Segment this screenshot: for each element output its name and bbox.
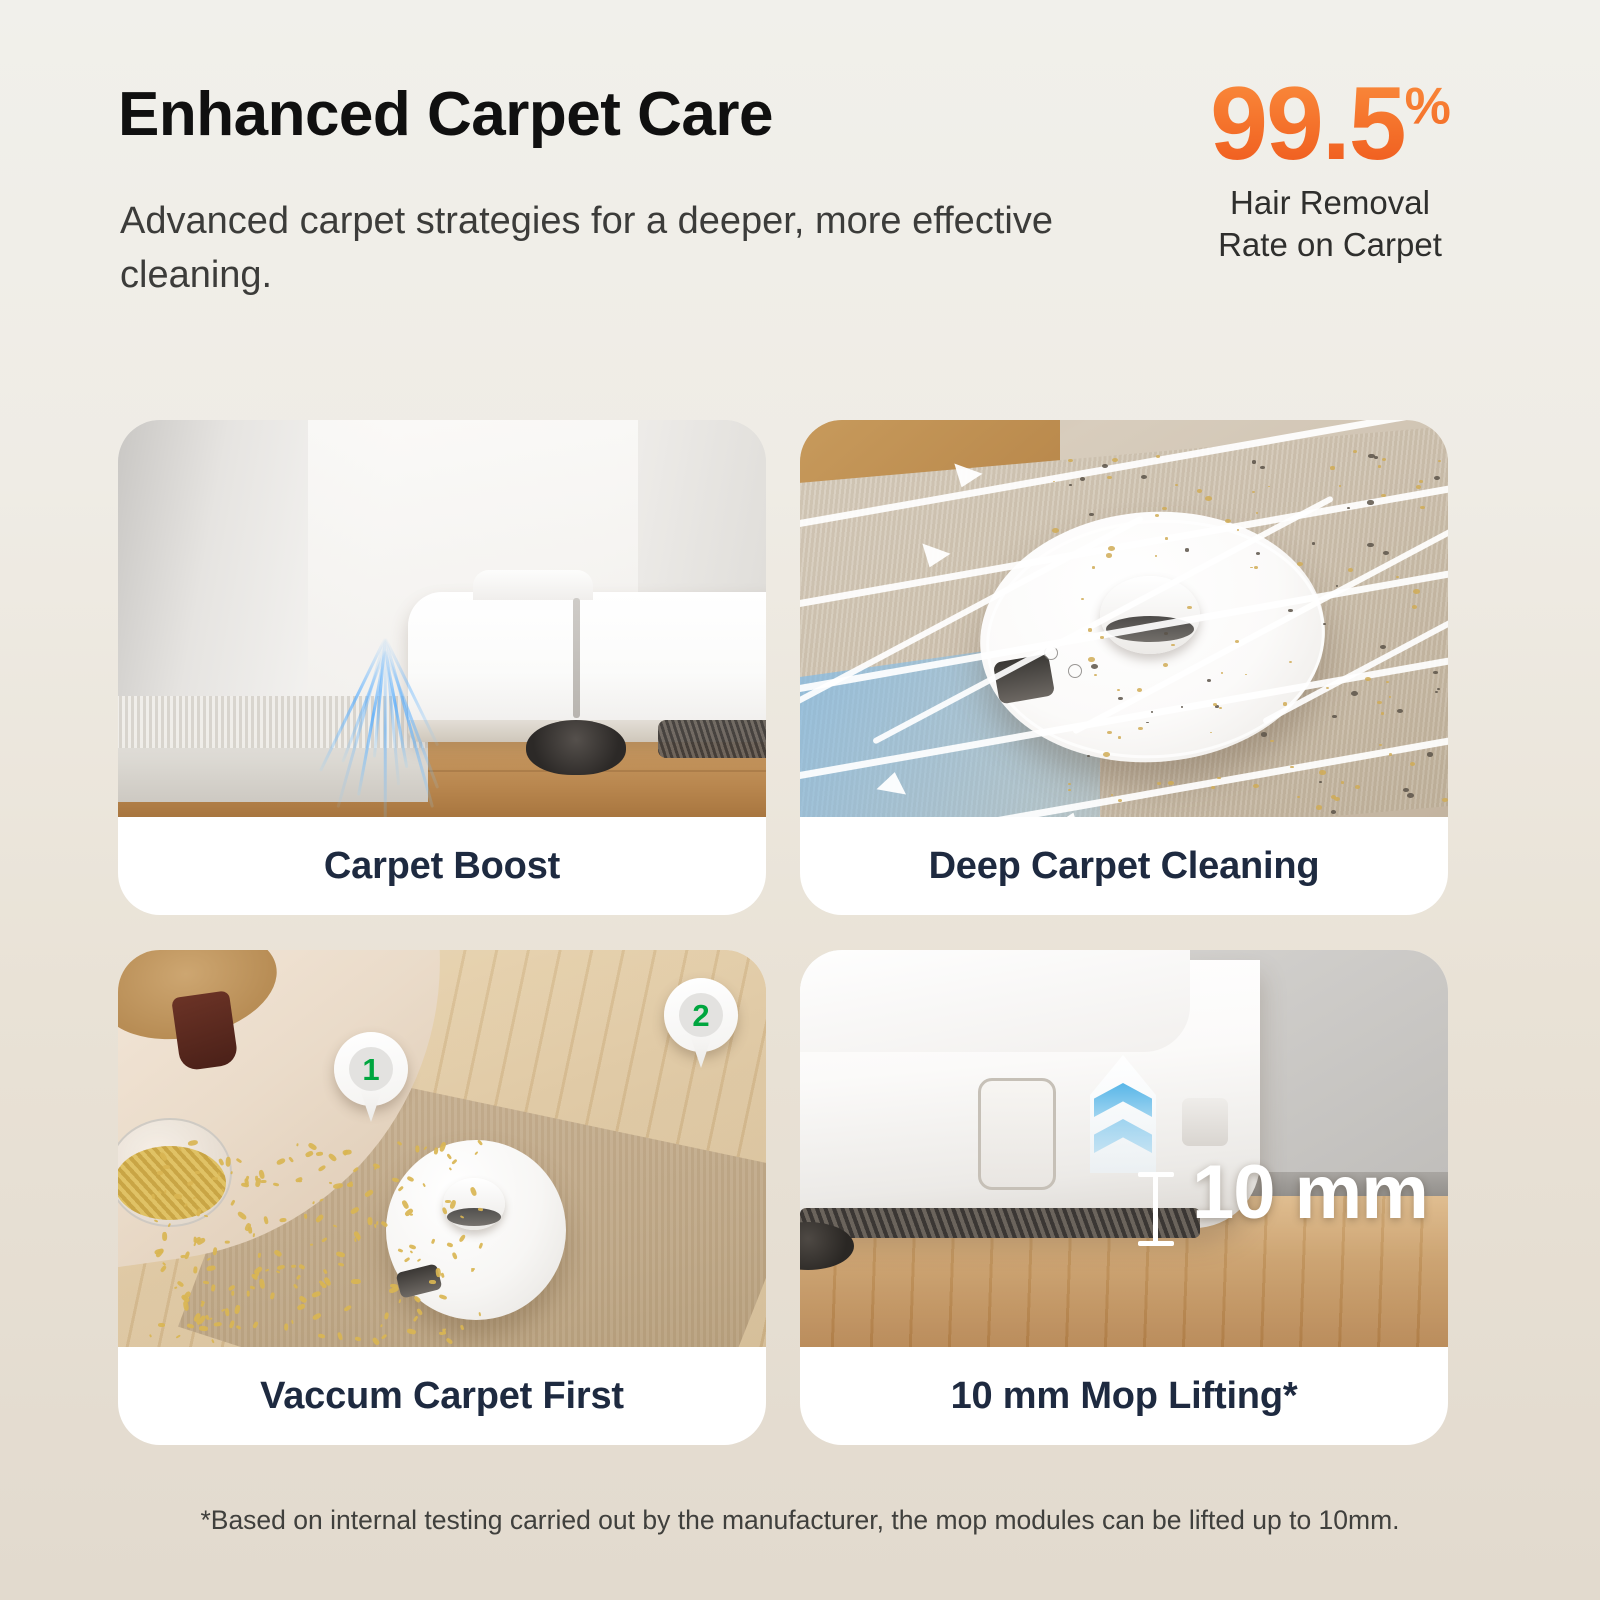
carpet-debris [1137, 688, 1142, 692]
carpet-debris [1187, 606, 1191, 609]
robot-vacuum-body [408, 592, 766, 737]
carpet-debris [1355, 785, 1360, 789]
food-crumb [312, 1201, 315, 1205]
chevron-up-icon [1094, 1083, 1152, 1117]
food-crumb [316, 1151, 323, 1156]
carpet-debris [1252, 491, 1255, 493]
map-pin-2: 2 [664, 978, 738, 1070]
carpet-debris [1389, 753, 1392, 755]
hair-removal-stat: 99.5% Hair Removal Rate on Carpet [1170, 75, 1490, 266]
feature-card-mop-lifting[interactable]: 10 mm 10 mm Mop Lifting* [800, 950, 1448, 1445]
food-crumb [478, 1312, 481, 1316]
carpet-debris [1330, 466, 1334, 469]
measure-bottom-bar [1138, 1241, 1174, 1246]
carpet-debris [1141, 475, 1147, 479]
carpet-debris [1151, 711, 1154, 713]
carpet-debris [1197, 489, 1202, 493]
footnote-disclaimer: *Based on internal testing carried out b… [0, 1505, 1600, 1536]
carpet-debris [1112, 458, 1118, 462]
robot-wheel [526, 720, 626, 775]
carpet-debris [1211, 786, 1215, 789]
carpet-debris [1100, 636, 1104, 638]
vaccum-carpet-first-image: 1 2 [118, 950, 766, 1347]
stat-caption: Hair Removal Rate on Carpet [1170, 182, 1490, 266]
carpet-debris [1331, 810, 1337, 814]
carpet-debris [1181, 706, 1183, 708]
food-crumb [478, 1207, 484, 1211]
stat-caption-line1: Hair Removal [1170, 182, 1490, 224]
feature-card-carpet-boost[interactable]: Carpet Boost [118, 420, 766, 915]
carpet-debris [1165, 537, 1168, 539]
map-pin-2-label: 2 [692, 1000, 709, 1031]
robot-side-port [978, 1078, 1056, 1190]
carpet-debris [1336, 585, 1338, 587]
feature-card-deep-carpet-cleaning[interactable]: Deep Carpet Cleaning [800, 420, 1448, 915]
carpet-debris [1383, 551, 1389, 555]
carpet-debris [1157, 782, 1161, 785]
food-crumb [279, 1217, 287, 1222]
carpet-debris [1107, 731, 1111, 734]
carpet-debris [1341, 781, 1344, 783]
carpet-debris [1155, 514, 1160, 517]
carpet-debris [1217, 777, 1221, 779]
card-label-vaccum-carpet-first: Vaccum Carpet First [118, 1347, 766, 1445]
carpet-debris [1283, 702, 1288, 705]
carpet-debris [1185, 548, 1189, 551]
carpet-debris [1256, 552, 1260, 555]
food-crumb [224, 1308, 229, 1316]
map-pin-1-label: 1 [362, 1054, 379, 1085]
carpet-debris [1416, 485, 1421, 489]
card-label-carpet-boost: Carpet Boost [118, 817, 766, 915]
carpet-debris [1437, 688, 1440, 690]
vaccum-carpet-first-scene: 1 2 [118, 950, 766, 1347]
carpet-debris [1069, 484, 1071, 486]
map-pin-disc: 2 [679, 993, 723, 1037]
food-crumb [258, 1253, 261, 1258]
carpet-debris [1289, 661, 1292, 663]
food-crumb [162, 1232, 167, 1241]
food-crumb [310, 1244, 313, 1246]
stat-number-text: 99.5 [1210, 66, 1404, 182]
carpet-debris [1367, 500, 1373, 504]
carpet-debris [1419, 480, 1423, 483]
robot-bumper-detail [1182, 1098, 1228, 1146]
carpet-debris [1382, 458, 1386, 461]
stat-value: 99.5% [1210, 75, 1450, 174]
page-title: Enhanced Carpet Care [118, 82, 773, 147]
carpet-debris [1427, 752, 1433, 756]
mop-lifting-image: 10 mm [800, 950, 1448, 1347]
map-pin-1: 1 [334, 1032, 408, 1124]
carpet-debris [1389, 696, 1391, 698]
airflow-strand [384, 650, 387, 817]
carpet-debris [1111, 794, 1114, 796]
food-crumb [204, 1214, 209, 1217]
feature-card-vaccum-carpet-first[interactable]: 1 2 Vaccum Carpet First [118, 950, 766, 1445]
robot-vacuum-seam [573, 598, 580, 718]
height-measure-marker [1138, 1172, 1174, 1246]
food-crumb [329, 1181, 333, 1184]
food-crumb [290, 1265, 295, 1268]
food-crumb [199, 1325, 208, 1331]
carpet-debris [1118, 736, 1122, 739]
robot-brush [658, 720, 766, 758]
carpet-debris [1420, 506, 1425, 509]
carpet-debris [1326, 687, 1329, 689]
carpet-boost-scene [118, 420, 766, 817]
deep-carpet-cleaning-image [800, 420, 1448, 817]
deep-carpet-cleaning-scene [800, 420, 1448, 817]
carpet-debris [1365, 677, 1371, 681]
card-label-deep-carpet-cleaning: Deep Carpet Cleaning [800, 817, 1448, 915]
food-crumb [429, 1280, 436, 1284]
carpet-debris [1164, 632, 1168, 635]
carpet-debris [1378, 465, 1381, 467]
carpet-debris [1386, 681, 1389, 683]
robot-lidar-ring [447, 1208, 501, 1226]
carpet-debris [1407, 793, 1414, 798]
carpet-debris [1168, 781, 1173, 785]
stat-percent-symbol: % [1405, 77, 1450, 135]
chevron-up-icon [1094, 1119, 1152, 1153]
carpet-debris [1103, 752, 1110, 757]
carpet-debris [1312, 542, 1316, 545]
carpet-debris [1252, 460, 1256, 463]
page-header: Enhanced Carpet Care Advanced carpet str… [0, 0, 1600, 400]
coffee-cup [171, 990, 239, 1071]
carpet-debris [1319, 770, 1326, 775]
carpet-debris [1381, 712, 1384, 714]
carpet-debris [1442, 798, 1448, 802]
stat-caption-line2: Rate on Carpet [1170, 224, 1490, 266]
measure-label: 10 mm [1192, 1155, 1428, 1231]
robot-dock-button-icon [1068, 664, 1082, 678]
carpet-debris [1410, 762, 1415, 766]
mop-lifting-scene: 10 mm [800, 950, 1448, 1347]
carpet-debris [1207, 679, 1211, 682]
card-label-mop-lifting: 10 mm Mop Lifting* [800, 1347, 1448, 1445]
food-crumb [416, 1145, 420, 1152]
carpet-debris [1088, 628, 1093, 631]
food-crumb [225, 1241, 230, 1244]
chips [118, 1146, 226, 1220]
carpet-debris [1106, 553, 1112, 557]
map-pin-disc: 1 [349, 1047, 393, 1091]
carpet-debris [1413, 589, 1420, 594]
carpet-debris [1087, 755, 1090, 757]
carpet-debris [1316, 805, 1322, 809]
carpet-debris [1205, 496, 1212, 501]
food-crumb [460, 1325, 464, 1330]
carpet-boost-image [118, 420, 766, 817]
carpet-debris [1081, 598, 1084, 600]
measure-stem [1153, 1172, 1158, 1246]
food-crumb [390, 1283, 398, 1288]
suction-airflow-icon [330, 638, 440, 813]
carpet-debris [1068, 789, 1070, 791]
robot-vacuum-top-shell [800, 950, 1190, 1052]
food-crumb [157, 1171, 164, 1175]
page-subtitle: Advanced carpet strategies for a deeper,… [120, 195, 1080, 303]
robot-vacuum-lidar [473, 570, 593, 600]
carpet-debris [1089, 513, 1094, 516]
food-crumb [193, 1266, 197, 1273]
carpet-debris [1088, 657, 1095, 662]
food-crumb [162, 1164, 170, 1168]
